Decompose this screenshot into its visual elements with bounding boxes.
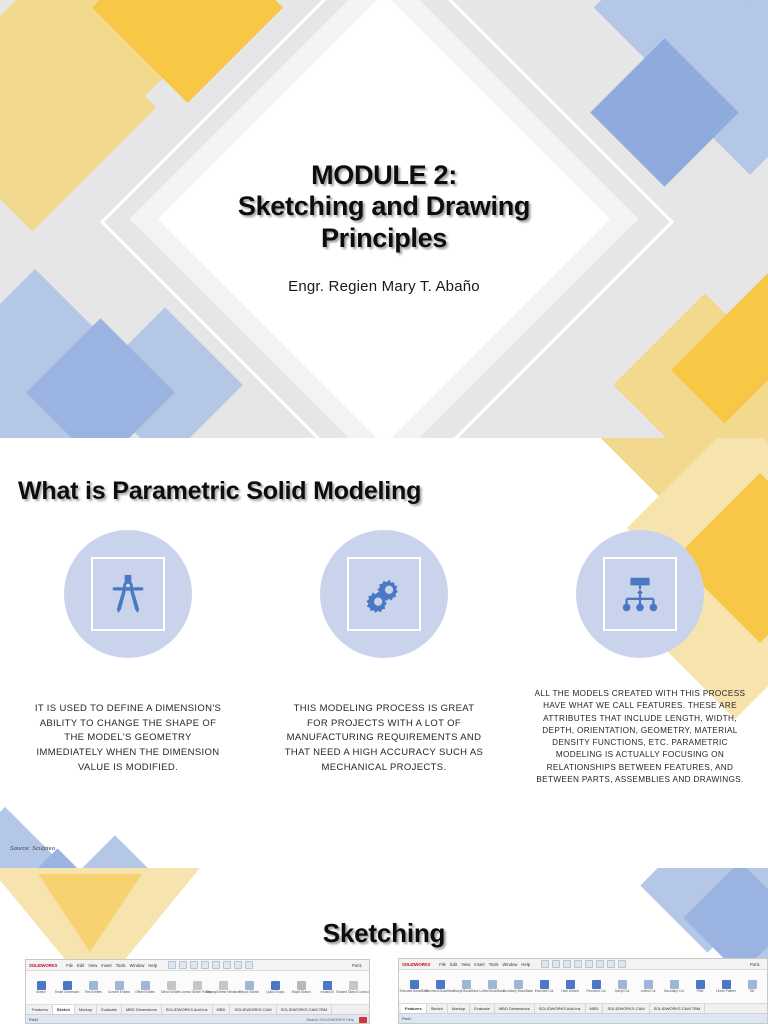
slide-title: MODULE 2: Sketching and Drawing Principl… xyxy=(0,0,768,438)
revolved-cut-icon xyxy=(592,980,601,989)
print-icon[interactable] xyxy=(574,960,582,968)
smart-dimension-icon xyxy=(63,981,72,990)
source-caption: Source: Sculpteo xyxy=(10,846,55,852)
tab-solidworks-add-ins[interactable]: SOLIDWORKS Add-Ins xyxy=(162,1005,213,1014)
feature-column-3: ALL THE MODELS CREATED WITH THIS PROCESS… xyxy=(519,530,761,795)
sw-left-tabs[interactable]: Features Sketch Markup Evaluate MBD Dime… xyxy=(26,1005,369,1015)
document-tab-part1[interactable]: Part1 xyxy=(29,1018,38,1022)
ribbon-button-sketch[interactable]: Sketch xyxy=(29,981,53,995)
convert-entities-icon xyxy=(115,981,124,990)
sw-right-menu[interactable]: File Edit View Insert Tools Window Help xyxy=(439,962,530,967)
gears-icon xyxy=(361,571,407,617)
ribbon-button-rapid-sketch[interactable]: Rapid Sketch xyxy=(289,981,313,995)
options-icon[interactable] xyxy=(618,960,626,968)
sw-right-ribbon[interactable]: Extruded Boss/Base Revolved Boss/Base Sw… xyxy=(399,970,767,1004)
menu-item-view[interactable]: View xyxy=(88,963,97,968)
instant2d-icon xyxy=(323,981,332,990)
sketch-icon xyxy=(37,981,46,990)
tab-evaluate[interactable]: Evaluate xyxy=(470,1004,495,1013)
sw-right-tabs[interactable]: Features Sketch Markup Evaluate MBD Dime… xyxy=(399,1004,767,1014)
extruded-boss-icon xyxy=(410,980,419,989)
ribbon-button-revolved-boss-base[interactable]: Revolved Boss/Base xyxy=(428,980,452,994)
sw-left-status: Search SOLIDWORKS Help xyxy=(306,1018,357,1022)
page-title-line-2: Sketching and Drawing xyxy=(238,191,530,222)
fillet-icon xyxy=(696,980,705,989)
quick-snaps-icon xyxy=(271,981,280,990)
page-title: MODULE 2: Sketching and Drawing Principl… xyxy=(238,160,530,254)
save-icon[interactable] xyxy=(190,961,198,969)
rebuild-icon[interactable] xyxy=(234,961,242,969)
tab-solidworks-cam-tbm[interactable]: SOLIDWORKS CAM TBM xyxy=(650,1004,706,1013)
rib-icon xyxy=(748,980,757,989)
linear-pattern-icon xyxy=(722,980,731,989)
menu-item-window[interactable]: Window xyxy=(503,962,518,967)
sw-left-menubar: SOLIDWORKS File Edit View Insert Tools W… xyxy=(26,960,369,971)
ribbon-button-convert-entities[interactable]: Convert Entities xyxy=(107,981,131,995)
ribbon-button-quick-snaps[interactable]: Quick Snaps xyxy=(263,981,287,995)
page-title-line-1: MODULE 2: xyxy=(238,160,530,191)
sw-left-document-tab-bar[interactable]: Part1 Search SOLIDWORKS Help xyxy=(26,1015,369,1024)
print-icon[interactable] xyxy=(201,961,209,969)
trim-entities-icon xyxy=(89,981,98,990)
ribbon-button-offset-entities[interactable]: Offset Entities xyxy=(133,981,157,995)
tab-solidworks-add-ins[interactable]: SOLIDWORKS Add-Ins xyxy=(535,1004,586,1013)
tab-sketch[interactable]: Sketch xyxy=(53,1005,75,1014)
menu-item-edit[interactable]: Edit xyxy=(450,962,457,967)
section-heading: What is Parametric Solid Modeling xyxy=(18,477,421,506)
feature-column-1: IT IS USED TO DEFINE A DIMENSION'S ABILI… xyxy=(7,530,249,785)
tab-sketch[interactable]: Sketch xyxy=(427,1004,448,1013)
feature-text-2: THIS MODELING PROCESS IS GREAT FOR PROJE… xyxy=(284,658,484,776)
author-name: Engr. Regien Mary T. Abaño xyxy=(288,278,480,295)
ribbon-button-shaded-sketch-contours[interactable]: Shaded Sketch Contours xyxy=(341,981,366,995)
ribbon-button-repair-sketch[interactable]: Repair Sketch xyxy=(237,981,261,995)
rebuild-icon[interactable] xyxy=(607,960,615,968)
menu-item-file[interactable]: File xyxy=(66,963,73,968)
offset-entities-icon xyxy=(141,981,150,990)
hole-wizard-icon xyxy=(566,980,575,989)
select-icon[interactable] xyxy=(223,961,231,969)
feature-text-1: IT IS USED TO DEFINE A DIMENSION'S ABILI… xyxy=(30,658,226,776)
ribbon-button-boundary-boss-base[interactable]: Boundary Boss/Base xyxy=(506,980,530,994)
boundary-boss-icon xyxy=(514,980,523,989)
menu-item-insert[interactable]: Insert xyxy=(101,963,111,968)
shaded-sketch-contours-icon xyxy=(349,981,358,990)
tab-markup[interactable]: Markup xyxy=(75,1005,97,1014)
open-icon[interactable] xyxy=(552,960,560,968)
menu-item-help[interactable]: Help xyxy=(521,962,530,967)
swept-boss-icon xyxy=(462,980,471,989)
tab-features[interactable]: Features xyxy=(401,1004,427,1013)
slide-sketching: Sketching SOLIDWORKS File Edit View Inse… xyxy=(0,868,768,1024)
document-tab-part1[interactable]: Part1 xyxy=(402,1017,411,1021)
menu-item-view[interactable]: View xyxy=(461,962,470,967)
slide-parametric-solid-modeling: What is Parametric Solid Modeling xyxy=(0,438,768,868)
ribbon-button-boundary-cut[interactable]: Boundary Cut xyxy=(662,980,686,994)
ribbon-button-lofted-cut[interactable]: Lofted Cut xyxy=(636,980,660,994)
ribbon-button-smart-dimension[interactable]: Smart Dimension xyxy=(55,981,79,995)
boundary-cut-icon xyxy=(670,980,679,989)
compass-divider-icon xyxy=(105,571,151,617)
icon-circle-1 xyxy=(64,530,192,658)
icon-frame-3 xyxy=(603,557,677,631)
tab-evaluate[interactable]: Evaluate xyxy=(97,1005,122,1014)
feature-column-2: THIS MODELING PROCESS IS GREAT FOR PROJE… xyxy=(263,530,505,785)
undo-icon[interactable] xyxy=(212,961,220,969)
undo-icon[interactable] xyxy=(585,960,593,968)
ribbon-button-rib[interactable]: Rib xyxy=(740,980,764,994)
solidworks-logo-right: SOLIDWORKS xyxy=(402,962,430,967)
sw-right-doc-title: Part1 xyxy=(750,962,764,967)
ribbon-button-display-delete-relations[interactable]: Display/Delete Relations xyxy=(211,981,235,995)
ribbon-button-revolved-cut[interactable]: Revolved Cut xyxy=(584,980,608,994)
tab-features[interactable]: Features xyxy=(28,1005,53,1014)
save-icon[interactable] xyxy=(563,960,571,968)
select-icon[interactable] xyxy=(596,960,604,968)
sw-right-quick-access-toolbar[interactable] xyxy=(541,960,626,968)
slide-heading-sketching: Sketching xyxy=(0,918,768,949)
open-icon[interactable] xyxy=(179,961,187,969)
lofted-boss-icon xyxy=(488,980,497,989)
hierarchy-icon xyxy=(617,571,663,617)
ribbon-button-linear-pattern[interactable]: Linear Pattern xyxy=(714,980,738,994)
icon-circle-2 xyxy=(320,530,448,658)
linear-sketch-pattern-icon xyxy=(193,981,202,990)
options-icon[interactable] xyxy=(245,961,253,969)
ribbon-button-extruded-cut[interactable]: Extruded Cut xyxy=(532,980,556,994)
sw-right-document-tab-bar[interactable]: Part1 xyxy=(399,1014,767,1023)
tab-solidworks-cam[interactable]: SOLIDWORKS CAM xyxy=(230,1005,276,1014)
rapid-sketch-icon xyxy=(297,981,306,990)
icon-circle-3 xyxy=(576,530,704,658)
menu-item-file[interactable]: File xyxy=(439,962,446,967)
ribbon-button-lofted-boss-base[interactable]: Lofted Boss/Base xyxy=(480,980,504,994)
page-title-line-3: Principles xyxy=(238,223,530,254)
menu-item-insert[interactable]: Insert xyxy=(474,962,484,967)
icon-frame-2 xyxy=(347,557,421,631)
tab-mbd[interactable]: MBD xyxy=(213,1005,231,1014)
feature-text-3: ALL THE MODELS CREATED WITH THIS PROCESS… xyxy=(528,658,752,786)
new-icon[interactable] xyxy=(168,961,176,969)
sw-right-menubar: SOLIDWORKS File Edit View Insert Tools W… xyxy=(399,959,767,970)
feature-columns: IT IS USED TO DEFINE A DIMENSION'S ABILI… xyxy=(0,530,768,795)
ribbon-button-swept-boss-base[interactable]: Swept Boss/Base xyxy=(454,980,478,994)
slide-deck: MODULE 2: Sketching and Drawing Principl… xyxy=(0,0,768,1024)
sw-left-quick-access-toolbar[interactable] xyxy=(168,961,253,969)
ribbon-button-extruded-boss-base[interactable]: Extruded Boss/Base xyxy=(402,980,426,994)
solidworks-screenshot-left[interactable]: SOLIDWORKS File Edit View Insert Tools W… xyxy=(25,959,370,1024)
solidworks-screenshot-right[interactable]: SOLIDWORKS File Edit View Insert Tools W… xyxy=(398,958,768,1024)
ribbon-button-hole-wizard[interactable]: Hole Wizard xyxy=(558,980,582,994)
menu-item-tools[interactable]: Tools xyxy=(489,962,499,967)
ribbon-button-fillet[interactable]: Fillet xyxy=(688,980,712,994)
tab-solidworks-cam[interactable]: SOLIDWORKS CAM xyxy=(603,1004,649,1013)
ribbon-button-swept-cut[interactable]: Swept Cut xyxy=(610,980,634,994)
menu-item-tools[interactable]: Tools xyxy=(116,963,126,968)
solidworks-logo-left: SOLIDWORKS xyxy=(29,963,57,968)
ribbon-button-draft[interactable]: Draft xyxy=(766,980,767,994)
new-icon[interactable] xyxy=(541,960,549,968)
tab-solidworks-cam-tbm[interactable]: SOLIDWORKS CAM TBM xyxy=(277,1005,333,1014)
mirror-entities-icon xyxy=(167,981,176,990)
swept-cut-icon xyxy=(618,980,627,989)
tab-mbd-dimensions[interactable]: MBD Dimensions xyxy=(495,1004,535,1013)
menu-item-window[interactable]: Window xyxy=(130,963,145,968)
sw-left-ribbon[interactable]: Sketch Smart Dimension Trim Entities Con… xyxy=(26,971,369,1005)
tab-mbd[interactable]: MBD xyxy=(586,1004,604,1013)
icon-frame-1 xyxy=(91,557,165,631)
tab-mbd-dimensions[interactable]: MBD Dimensions xyxy=(122,1005,162,1014)
menu-item-edit[interactable]: Edit xyxy=(77,963,84,968)
display-delete-relations-icon xyxy=(219,981,228,990)
close-icon[interactable] xyxy=(359,1017,367,1023)
sw-left-doc-title: Part1 xyxy=(352,963,366,968)
repair-sketch-icon xyxy=(245,981,254,990)
menu-item-help[interactable]: Help xyxy=(148,963,157,968)
tab-markup[interactable]: Markup xyxy=(448,1004,470,1013)
ribbon-button-mirror-entities[interactable]: Mirror Entities xyxy=(159,981,183,995)
lofted-cut-icon xyxy=(644,980,653,989)
revolved-boss-icon xyxy=(436,980,445,989)
sw-left-menu[interactable]: File Edit View Insert Tools Window Help xyxy=(66,963,157,968)
extruded-cut-icon xyxy=(540,980,549,989)
ribbon-button-trim-entities[interactable]: Trim Entities xyxy=(81,981,105,995)
